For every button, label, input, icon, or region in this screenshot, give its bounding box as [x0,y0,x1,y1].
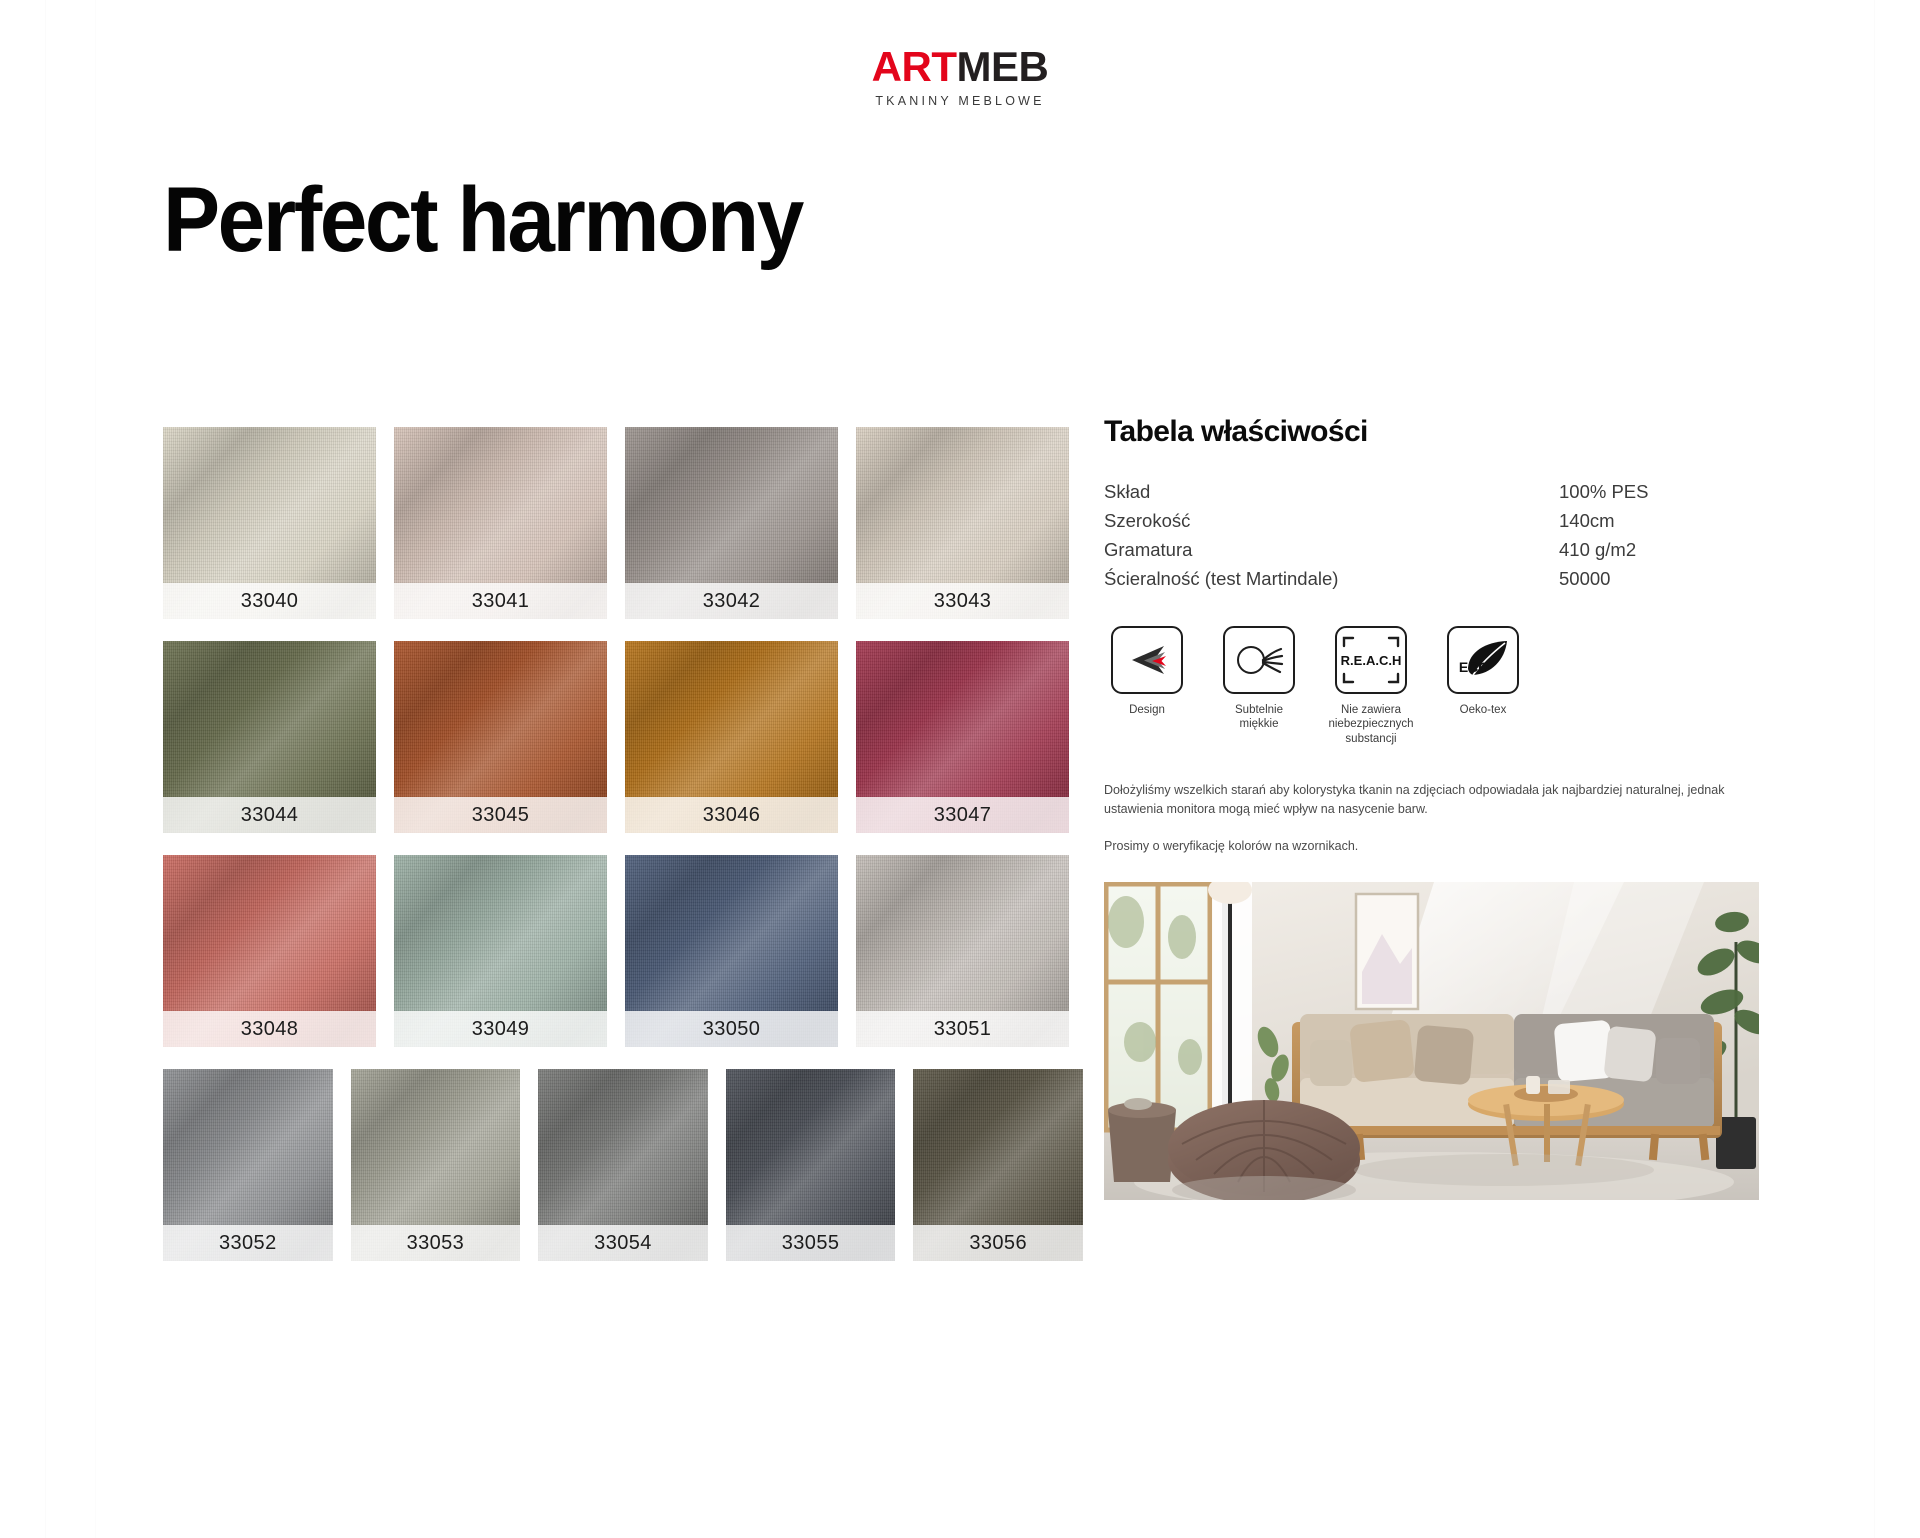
fabric-swatch[interactable]: 33055 [726,1069,896,1261]
color-disclaimer: Dołożyliśmy wszelkich starań aby kolorys… [1104,781,1759,856]
fabric-swatch[interactable]: 33042 [625,427,838,619]
spec-value: 100% PES [1559,477,1814,506]
spec-row: Szerokość140cm [1104,506,1814,535]
reach-icon: R.E.A.C.H [1335,626,1407,694]
sheet-edge-left-inner [95,0,96,1538]
fabric-code-label: 33056 [913,1225,1083,1261]
brand-name-secondary: MEB [956,43,1048,90]
spec-key: Gramatura [1104,535,1559,564]
fabric-swatch[interactable]: 33047 [856,641,1069,833]
page-title: Perfect harmony [163,172,802,269]
certification-badge[interactable]: ECOOeko-tex [1440,626,1526,747]
svg-text:R.E.A.C.H: R.E.A.C.H [1341,653,1402,668]
spec-row: Gramatura410 g/m2 [1104,535,1814,564]
spec-value: 410 g/m2 [1559,535,1814,564]
spec-value: 140cm [1559,506,1814,535]
fabric-code-label: 33055 [726,1225,896,1261]
brand-tagline: TKANINY MEBLOWE [0,95,1920,108]
spec-value: 50000 [1559,564,1814,593]
spec-table-heading: Tabela właściwości [1104,415,1814,449]
brand-logo[interactable]: ARTMEB TKANINY MEBLOWE [0,46,1920,108]
badge-caption: Nie zawiera niebezpiecznych substancji [1328,703,1414,747]
eco-leaf-icon: ECO [1447,626,1519,694]
details-column: Tabela właściwości Skład100% PESSzerokoś… [1104,415,1814,1200]
brand-name-primary: ART [872,43,957,90]
design-arrow-icon [1111,626,1183,694]
badge-caption: Subtelnie miękkie [1216,703,1302,732]
fabric-swatch-grid: 3304033041330423304333044330453304633047… [163,427,1083,1283]
disclaimer-paragraph-1: Dołożyliśmy wszelkich starań aby kolorys… [1104,781,1759,819]
fabric-swatch[interactable]: 33043 [856,427,1069,619]
fabric-code-label: 33052 [163,1225,333,1261]
fabric-code-label: 33053 [351,1225,521,1261]
fabric-code-label: 33043 [856,583,1069,619]
fabric-code-label: 33051 [856,1011,1069,1047]
fabric-code-label: 33040 [163,583,376,619]
fabric-swatch[interactable]: 33041 [394,427,607,619]
fabric-code-label: 33041 [394,583,607,619]
fabric-code-label: 33049 [394,1011,607,1047]
brand-wordmark: ARTMEB [0,46,1920,88]
interior-illustration [1104,882,1759,1200]
fabric-swatch[interactable]: 33054 [538,1069,708,1261]
svg-text:ECO: ECO [1459,659,1489,675]
fabric-swatch[interactable]: 33052 [163,1069,333,1261]
fabric-swatch[interactable]: 33040 [163,427,376,619]
spec-row: Skład100% PES [1104,477,1814,506]
badge-caption: Oeko-tex [1440,703,1526,718]
soft-feather-icon [1223,626,1295,694]
fabric-swatch[interactable]: 33046 [625,641,838,833]
fabric-swatch[interactable]: 33056 [913,1069,1083,1261]
fabric-swatch[interactable]: 33048 [163,855,376,1047]
fabric-code-label: 33047 [856,797,1069,833]
fabric-code-label: 33054 [538,1225,708,1261]
fabric-swatch[interactable]: 33044 [163,641,376,833]
fabric-code-label: 33048 [163,1011,376,1047]
disclaimer-paragraph-2: Prosimy o weryfikację kolorów na wzornik… [1104,837,1759,856]
spec-key: Ścieralność (test Martindale) [1104,564,1559,593]
fabric-swatch[interactable]: 33045 [394,641,607,833]
spec-key: Szerokość [1104,506,1559,535]
swatch-row: 3305233053330543305533056 [163,1069,1083,1261]
sheet-edge-left [45,0,46,1538]
fabric-code-label: 33050 [625,1011,838,1047]
fabric-code-label: 33042 [625,583,838,619]
sheet-edge-right [1874,0,1875,1538]
swatch-row: 33044330453304633047 [163,641,1083,833]
spec-row: Ścieralność (test Martindale)50000 [1104,564,1814,593]
catalog-page: ARTMEB TKANINY MEBLOWE Perfect harmony 3… [0,0,1920,1538]
interior-photo [1104,882,1759,1200]
certification-badge[interactable]: Design [1104,626,1190,747]
swatch-row: 33040330413304233043 [163,427,1083,619]
fabric-swatch[interactable]: 33050 [625,855,838,1047]
fabric-code-label: 33044 [163,797,376,833]
spec-table: Skład100% PESSzerokość140cmGramatura410 … [1104,477,1814,594]
badge-caption: Design [1104,703,1190,718]
fabric-code-label: 33045 [394,797,607,833]
spec-key: Skład [1104,477,1559,506]
swatch-row: 33048330493305033051 [163,855,1083,1047]
certification-badge[interactable]: Subtelnie miękkie [1216,626,1302,747]
certification-badges: DesignSubtelnie miękkieR.E.A.C.HNie zawi… [1104,626,1814,747]
certification-badge[interactable]: R.E.A.C.HNie zawiera niebezpiecznych sub… [1328,626,1414,747]
fabric-swatch[interactable]: 33049 [394,855,607,1047]
fabric-swatch[interactable]: 33051 [856,855,1069,1047]
fabric-swatch[interactable]: 33053 [351,1069,521,1261]
fabric-code-label: 33046 [625,797,838,833]
